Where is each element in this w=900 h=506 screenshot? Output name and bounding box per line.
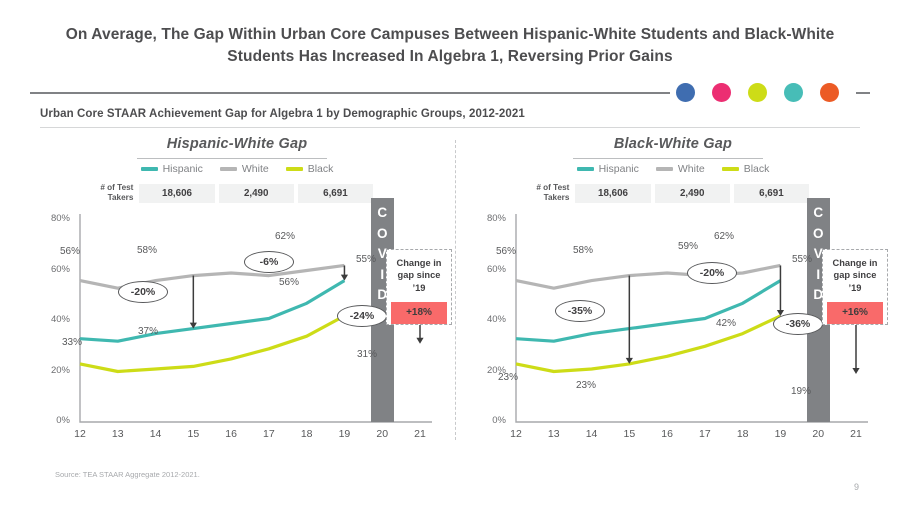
subtitle-divider (40, 127, 860, 128)
dot-teal-icon (784, 83, 803, 102)
x-axis-tick-label: 18 (296, 428, 318, 440)
gap-arrow-head-icon (416, 338, 423, 344)
y-axis-tick-label: 40% (476, 314, 506, 325)
chart-legend: HispanicWhiteBlack (458, 163, 888, 175)
x-axis-tick-label: 13 (107, 428, 129, 440)
covid-letter: I (380, 265, 384, 286)
test-takers-row: # of TestTakers18,6062,4906,691 (77, 180, 377, 206)
test-takers-row: # of TestTakers18,6062,4906,691 (513, 180, 813, 206)
white-2012-label: 56% (496, 246, 516, 257)
chart-panel-title-underline (137, 158, 327, 159)
gap-pill-2019: -6% (244, 251, 294, 273)
gap-pill-2015: -35% (555, 300, 605, 322)
white-2021-label: 55% (356, 254, 376, 265)
chart-panel-title-underline (573, 158, 763, 159)
source-note: Source: TEA STAAR Aggregate 2012-2021. (55, 470, 200, 479)
white-2021-label: 55% (792, 254, 812, 265)
legend-swatch-icon (141, 167, 158, 170)
x-axis-tick-label: 14 (145, 428, 167, 440)
legend-item-white[interactable]: White (220, 163, 269, 175)
legend-swatch-icon (286, 167, 303, 170)
change-in-gap-box: Change ingap since’19+18% (386, 249, 452, 325)
hispanic-2019-label: 56% (279, 277, 299, 288)
y-axis-tick-label: 80% (40, 213, 70, 224)
x-axis-tick-label: 12 (69, 428, 91, 440)
plot-area: 80%60%40%20%0%12131415161718192021COVID5… (458, 204, 888, 456)
dot-pink-icon (712, 83, 731, 102)
divider-line-left (30, 92, 670, 94)
legend-swatch-icon (656, 167, 673, 170)
hispanic-2021-label: 31% (357, 349, 377, 360)
gap-pill-2021: -36% (773, 313, 823, 335)
test-takers-value: 6,691 (734, 184, 809, 203)
slide: On Average, The Gap Within Urban Core Ca… (0, 0, 900, 506)
chart-panel-hispanic-white: Hispanic-White GapHispanicWhiteBlack# of… (22, 136, 452, 456)
test-takers-value: 18,606 (139, 184, 214, 203)
black-2019-label: 42% (716, 318, 736, 329)
white-2012-label: 56% (60, 246, 80, 257)
x-axis-tick-label: 13 (543, 428, 565, 440)
dot-orange-icon (820, 83, 839, 102)
page-number: 9 (854, 482, 859, 492)
y-axis-tick-label: 60% (40, 264, 70, 275)
chart-panel-title: Hispanic-White Gap (22, 136, 452, 152)
y-axis-tick-label: 80% (476, 213, 506, 224)
white-2019-label: 62% (714, 231, 734, 242)
change-in-gap-caption: Change ingap since’19 (391, 257, 447, 294)
test-takers-label: # of TestTakers (513, 183, 575, 204)
legend-label: White (678, 163, 705, 175)
x-axis-tick-label: 16 (656, 428, 678, 440)
hispanic-2015-label: 37% (138, 326, 158, 337)
covid-letter: O (377, 224, 388, 245)
legend-label: Hispanic (599, 163, 639, 175)
brand-dots (676, 83, 854, 103)
test-takers-label: # of TestTakers (77, 183, 139, 204)
x-axis-tick-label: 19 (333, 428, 355, 440)
panel-divider (455, 140, 457, 440)
y-axis-tick-label: 60% (476, 264, 506, 275)
test-takers-value: 18,606 (575, 184, 650, 203)
x-axis-tick-label: 14 (581, 428, 603, 440)
gap-pill-2019: -20% (687, 262, 737, 284)
dot-blue-icon (676, 83, 695, 102)
dot-lime-icon (748, 83, 767, 102)
x-axis-tick-label: 20 (371, 428, 393, 440)
x-axis-tick-label: 17 (258, 428, 280, 440)
chart-legend: HispanicWhiteBlack (22, 163, 452, 175)
covid-letter: C (813, 203, 823, 224)
gap-pill-2021: -24% (337, 305, 387, 327)
legend-swatch-icon (220, 167, 237, 170)
change-in-gap-caption: Change ingap since’19 (827, 257, 883, 294)
plot-area: 80%60%40%20%0%12131415161718192021COVID5… (22, 204, 452, 456)
x-axis-tick-label: 21 (409, 428, 431, 440)
gap-arrow-head-icon (341, 275, 348, 281)
x-axis-tick-label: 21 (845, 428, 867, 440)
y-axis-tick-label: 20% (40, 365, 70, 376)
hispanic-2012-label: 33% (62, 337, 82, 348)
legend-item-white[interactable]: White (656, 163, 705, 175)
x-axis-tick-label: 18 (732, 428, 754, 440)
legend-label: Hispanic (163, 163, 203, 175)
covid-letter: O (813, 224, 824, 245)
legend-swatch-icon (722, 167, 739, 170)
divider-line-right (856, 92, 870, 94)
change-in-gap-box: Change ingap since’19+16% (822, 249, 888, 325)
legend-item-black[interactable]: Black (722, 163, 770, 175)
x-axis-tick-label: 15 (618, 428, 640, 440)
x-axis-tick-label: 12 (505, 428, 527, 440)
white-2018-label: 59% (678, 241, 698, 252)
legend-swatch-icon (577, 167, 594, 170)
y-axis-tick-label: 40% (40, 314, 70, 325)
black-2012-label: 23% (498, 372, 518, 383)
legend-item-hispanic[interactable]: Hispanic (577, 163, 639, 175)
legend-label: Black (308, 163, 334, 175)
gap-arrow-head-icon (852, 368, 859, 374)
x-axis-tick-label: 16 (220, 428, 242, 440)
covid-letter: I (816, 265, 820, 286)
chart-panel-title: Black-White Gap (458, 136, 888, 152)
x-axis-tick-label: 17 (694, 428, 716, 440)
legend-item-hispanic[interactable]: Hispanic (141, 163, 203, 175)
chart-panel-black-white: Black-White GapHispanicWhiteBlack# of Te… (458, 136, 888, 456)
legend-label: White (242, 163, 269, 175)
x-axis-tick-label: 19 (769, 428, 791, 440)
y-axis-tick-label: 0% (476, 415, 506, 426)
covid-letter: C (377, 203, 387, 224)
white-2015-label: 58% (573, 245, 593, 256)
white-2015-label: 58% (137, 245, 157, 256)
x-axis-tick-label: 15 (182, 428, 204, 440)
test-takers-value: 6,691 (298, 184, 373, 203)
gap-pill-2015: -20% (118, 281, 168, 303)
y-axis-tick-label: 0% (40, 415, 70, 426)
legend-item-black[interactable]: Black (286, 163, 334, 175)
change-in-gap-value: +18% (391, 302, 447, 324)
chart-subtitle: Urban Core STAAR Achievement Gap for Alg… (40, 108, 525, 120)
series-line-white (516, 265, 856, 288)
black-2015-label: 23% (576, 380, 596, 391)
change-in-gap-value: +16% (827, 302, 883, 324)
legend-label: Black (744, 163, 770, 175)
test-takers-value: 2,490 (219, 184, 294, 203)
black-2021-label: 19% (791, 386, 811, 397)
x-axis-tick-label: 20 (807, 428, 829, 440)
header-divider (30, 92, 870, 94)
page-title: On Average, The Gap Within Urban Core Ca… (60, 24, 840, 69)
test-takers-value: 2,490 (655, 184, 730, 203)
white-2019-label: 62% (275, 231, 295, 242)
